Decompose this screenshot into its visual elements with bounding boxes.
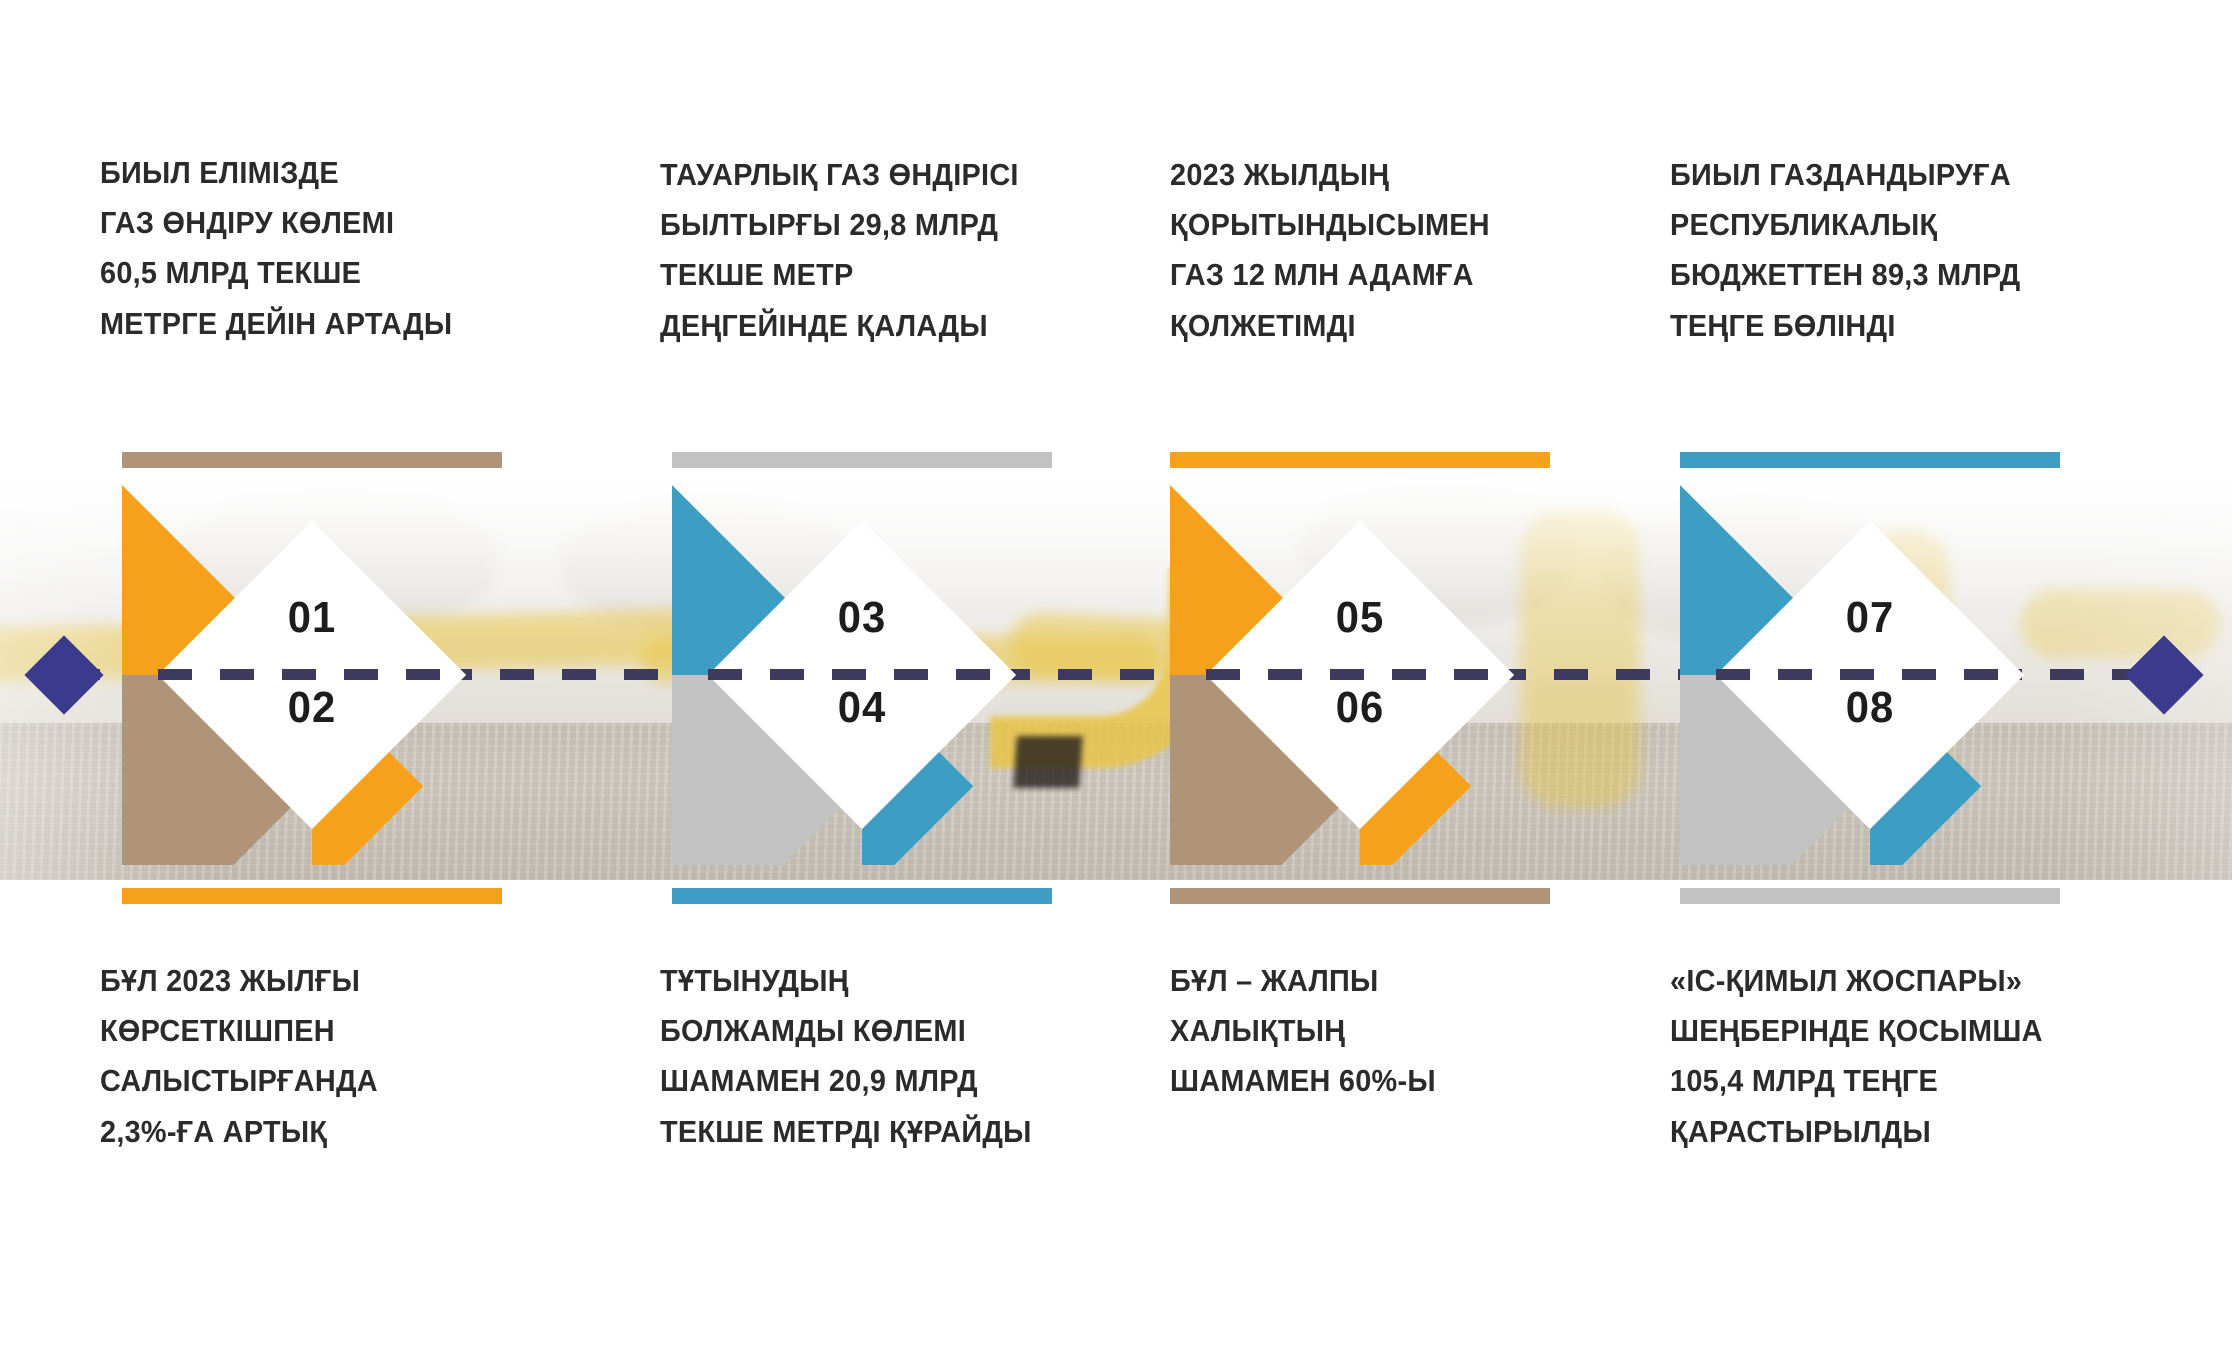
- diamond-mid-dash: [708, 669, 1016, 680]
- diamond-mid-dash: [1206, 669, 1514, 680]
- column-4-bottom-bar: [1680, 888, 2060, 904]
- column-3-top-bar: [1170, 452, 1550, 468]
- infographic-canvas: БИЫЛ ЕЛІМІЗДЕ ГАЗ ӨНДІРУ КӨЛЕМІ 60,5 МЛР…: [0, 0, 2232, 1348]
- column-3-diamond-badge[interactable]: 05 06: [1170, 485, 1550, 865]
- step-number-top: 05: [1180, 593, 1541, 643]
- column-3-footline: БҰЛ – ЖАЛПЫ ХАЛЫҚТЫҢ ШАМАМЕН 60%-Ы: [1170, 956, 1436, 1107]
- column-3-bottom-bar: [1170, 888, 1550, 904]
- column-1-diamond-badge[interactable]: 01 02: [122, 485, 502, 865]
- timeline-column-2: ТАУАРЛЫҚ ГАЗ ӨНДІРІСІ БЫЛТЫРҒЫ 29,8 МЛРД…: [660, 0, 1160, 1348]
- column-4-headline: БИЫЛ ГАЗДАНДЫРУҒА РЕСПУБЛИКАЛЫҚ БЮДЖЕТТЕ…: [1670, 150, 2020, 351]
- column-1-headline: БИЫЛ ЕЛІМІЗДЕ ГАЗ ӨНДІРУ КӨЛЕМІ 60,5 МЛР…: [100, 148, 452, 349]
- step-number-bottom: 02: [132, 683, 493, 733]
- timeline-column-4: БИЫЛ ГАЗДАНДЫРУҒА РЕСПУБЛИКАЛЫҚ БЮДЖЕТТЕ…: [1670, 0, 2170, 1348]
- diamond-mid-dash: [1716, 669, 2024, 680]
- diamond-mid-dash: [158, 669, 466, 680]
- timeline-column-3: 2023 ЖЫЛДЫҢ ҚОРЫТЫНДЫСЫМЕН ГАЗ 12 МЛН АД…: [1170, 0, 1670, 1348]
- step-number-top: 07: [1690, 593, 2051, 643]
- column-2-headline: ТАУАРЛЫҚ ГАЗ ӨНДІРІСІ БЫЛТЫРҒЫ 29,8 МЛРД…: [660, 150, 1019, 351]
- column-2-top-bar: [672, 452, 1052, 468]
- step-number-top: 03: [682, 593, 1043, 643]
- column-1-footline: БҰЛ 2023 ЖЫЛҒЫ КӨРСЕТКІШПЕН САЛЫСТЫРҒАНД…: [100, 956, 378, 1157]
- column-4-footline: «ІС-ҚИМЫЛ ЖОСПАРЫ» ШЕҢБЕРІНДЕ ҚОСЫМША 10…: [1670, 956, 2043, 1157]
- step-number-bottom: 06: [1180, 683, 1541, 733]
- column-4-top-bar: [1680, 452, 2060, 468]
- step-number-bottom: 04: [682, 683, 1043, 733]
- column-1-bottom-bar: [122, 888, 502, 904]
- step-number-top: 01: [132, 593, 493, 643]
- column-2-diamond-badge[interactable]: 03 04: [672, 485, 1052, 865]
- step-number-bottom: 08: [1690, 683, 2051, 733]
- column-4-diamond-badge[interactable]: 07 08: [1680, 485, 2060, 865]
- timeline-column-1: БИЫЛ ЕЛІМІЗДЕ ГАЗ ӨНДІРУ КӨЛЕМІ 60,5 МЛР…: [100, 0, 600, 1348]
- column-3-headline: 2023 ЖЫЛДЫҢ ҚОРЫТЫНДЫСЫМЕН ГАЗ 12 МЛН АД…: [1170, 150, 1490, 351]
- column-1-top-bar: [122, 452, 502, 468]
- column-2-footline: ТҰТЫНУДЫҢ БОЛЖАМДЫ КӨЛЕМІ ШАМАМЕН 20,9 М…: [660, 956, 1032, 1157]
- column-2-bottom-bar: [672, 888, 1052, 904]
